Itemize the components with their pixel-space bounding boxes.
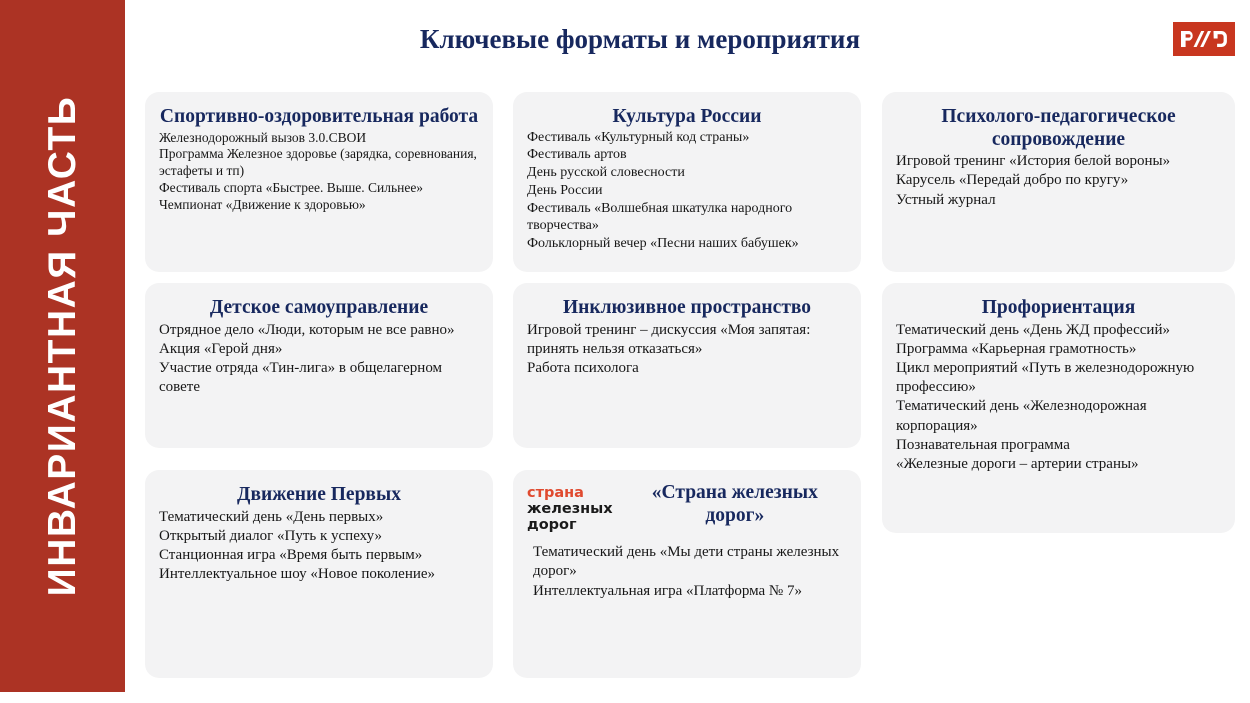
- list-item: Фестиваль артов: [527, 146, 847, 164]
- page-title: Ключевые форматы и мероприятия: [140, 24, 1140, 55]
- card-body: Тематический день «Мы дети страны железн…: [527, 543, 847, 602]
- list-item: Цикл мероприятий «Путь в железнодорожную…: [896, 359, 1221, 397]
- list-item: Карусель «Передай добро по кругу»: [896, 171, 1221, 190]
- list-item: Игровой тренинг «История белой вороны»: [896, 152, 1221, 171]
- list-item: Тематический день «Железнодорожная корпо…: [896, 397, 1221, 435]
- card-title: Инклюзивное пространство: [527, 297, 847, 320]
- list-item: «Железные дороги – артерии страны»: [896, 455, 1221, 474]
- card-grid: Спортивно-оздоровительная работа Железно…: [145, 92, 1235, 677]
- card-strana-zheleznyh-dorog[interactable]: страна железных дорог «Страна железных д…: [513, 470, 861, 678]
- card-psychological-support[interactable]: Психолого-педагогическое сопровождение И…: [882, 92, 1235, 272]
- card-body: Тематический день «День ЖД профессий» Пр…: [896, 321, 1221, 475]
- list-item: Тематический день «День ЖД профессий»: [896, 321, 1221, 340]
- list-item: Работа психолога: [527, 359, 847, 378]
- list-item: Фольклорный вечер «Песни наших бабушек»: [527, 235, 847, 253]
- list-item: Программа «Карьерная грамотность»: [896, 340, 1221, 359]
- list-item: Познавательная программа: [896, 436, 1221, 455]
- card-body: Фестиваль «Культурный код страны» Фестив…: [527, 129, 847, 253]
- card-body: Тематический день «День первых» Открытый…: [159, 508, 479, 585]
- card-body: Игровой тренинг – дискуссия «Моя запятая…: [527, 321, 847, 379]
- logo-line-1: страна: [527, 485, 613, 501]
- card-title: Детское самоуправление: [159, 297, 479, 320]
- list-item: Устный журнал: [896, 191, 1221, 210]
- list-item: Интеллектуальное шоу «Новое поколение»: [159, 565, 479, 584]
- logo-line-2: железных: [527, 501, 613, 517]
- list-item: Акция «Герой дня»: [159, 340, 479, 359]
- card-title: Психолого-педагогическое сопровождение: [896, 106, 1221, 151]
- card-career-guidance[interactable]: Профориентация Тематический день «День Ж…: [882, 283, 1235, 533]
- list-item: День русской словесности: [527, 164, 847, 182]
- list-item: Фестиваль спорта «Быстрее. Выше. Сильнее…: [159, 180, 479, 197]
- strana-zheleznyh-dorog-logo-icon: страна железных дорог: [527, 482, 613, 534]
- card-title: «Страна железных дорог»: [623, 482, 847, 527]
- list-item: Интеллектуальная игра «Платформа № 7»: [533, 582, 847, 602]
- rzd-logo-icon: [1173, 22, 1235, 56]
- card-title: Профориентация: [896, 297, 1221, 320]
- sidebar-band: ИНВАРИАНТНАЯ ЧАСТЬ: [0, 0, 125, 692]
- logo-line-3: дорог: [527, 517, 613, 533]
- card-culture[interactable]: Культура России Фестиваль «Культурный ко…: [513, 92, 861, 272]
- card-title: Спортивно-оздоровительная работа: [159, 106, 479, 129]
- card-title: Культура России: [527, 106, 847, 129]
- sidebar-label: ИНВАРИАНТНАЯ ЧАСТЬ: [41, 96, 85, 597]
- list-item: Игровой тренинг – дискуссия «Моя запятая…: [527, 321, 847, 359]
- card-body: Железнодорожный вызов 3.0.СВОИ Программа…: [159, 130, 479, 214]
- list-item: Отрядное дело «Люди, которым не все равн…: [159, 321, 479, 340]
- list-item: Тематический день «День первых»: [159, 508, 479, 527]
- card-title: Движение Первых: [159, 484, 479, 507]
- list-item: Программа Железное здоровье (зарядка, со…: [159, 146, 479, 180]
- list-item: Открытый диалог «Путь к успеху»: [159, 527, 479, 546]
- list-item: Станционная игра «Время быть первым»: [159, 546, 479, 565]
- list-item: Чемпионат «Движение к здоровью»: [159, 197, 479, 214]
- card-movement-of-the-first[interactable]: Движение Первых Тематический день «День …: [145, 470, 493, 678]
- card-childrens-self-government[interactable]: Детское самоуправление Отрядное дело «Лю…: [145, 283, 493, 448]
- card-body: Игровой тренинг «История белой вороны» К…: [896, 152, 1221, 210]
- list-item: Фестиваль «Волшебная шкатулка народного …: [527, 200, 847, 236]
- list-item: День России: [527, 182, 847, 200]
- card-sport[interactable]: Спортивно-оздоровительная работа Железно…: [145, 92, 493, 272]
- list-item: Железнодорожный вызов 3.0.СВОИ: [159, 130, 479, 147]
- list-item: Участие отряда «Тин-лига» в общелагерном…: [159, 359, 479, 397]
- list-item: Фестиваль «Культурный код страны»: [527, 129, 847, 147]
- card-body: Отрядное дело «Люди, которым не все равн…: [159, 321, 479, 398]
- card-inclusive-space[interactable]: Инклюзивное пространство Игровой тренинг…: [513, 283, 861, 448]
- list-item: Тематический день «Мы дети страны железн…: [533, 543, 847, 582]
- card-header-row: страна железных дорог «Страна железных д…: [527, 482, 847, 534]
